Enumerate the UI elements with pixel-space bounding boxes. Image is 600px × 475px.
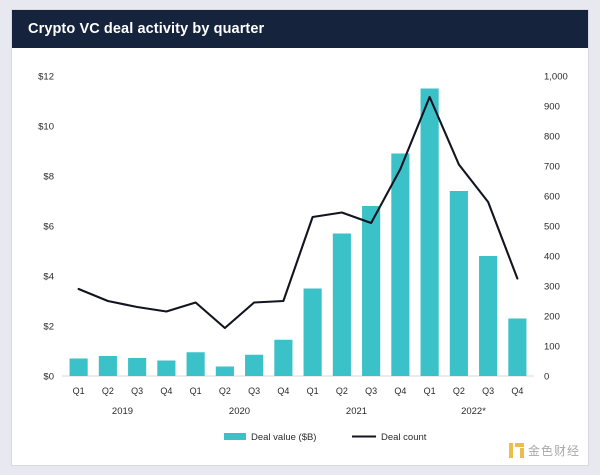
x-axis-group-label-0: 2019 [112,406,133,417]
legend-label-deal-value: Deal value ($B) [251,432,316,443]
bar-Q4-11 [391,154,409,377]
chart-area: $0$2$4$6$8$10$12 01002003004005006007008… [12,48,588,465]
y-axis-right-tick: 1,000 [544,72,568,83]
x-axis-label-5: Q2 [219,386,231,396]
x-axis-label-1: Q2 [102,386,114,396]
x-axis-group-label-1: 2020 [229,406,250,417]
x-axis-label-4: Q1 [190,386,202,396]
y-axis-right-tick: 600 [544,192,560,203]
chart-card: Crypto VC deal activity by quarter $0$2$… [12,10,588,465]
y-axis-right-tick: 700 [544,162,560,173]
legend-swatch-deal-value [224,433,246,440]
card-header: Crypto VC deal activity by quarter [12,10,588,48]
x-axis-label-0: Q1 [73,386,85,396]
y-axis-right-tick: 500 [544,222,560,233]
x-axis-group-label-3: 2022* [461,406,486,417]
chart-legend: Deal value ($B)Deal count [224,432,427,443]
bar-Q1-8 [304,289,322,377]
y-axis-right: 01002003004005006007008009001,000 [544,72,568,383]
x-axis-label-10: Q3 [365,386,377,396]
y-axis-left-tick: $0 [43,372,54,383]
x-axis-label-9: Q2 [336,386,348,396]
x-axis-label-14: Q3 [482,386,494,396]
x-axis-label-3: Q4 [160,386,172,396]
x-axis-label-6: Q3 [248,386,260,396]
x-axis: Q1Q2Q3Q4Q1Q2Q3Q4Q1Q2Q3Q4Q1Q2Q3Q420192020… [73,386,524,417]
legend-label-deal-count: Deal count [381,432,427,443]
y-axis-left-tick: $10 [38,122,54,133]
bar-Q2-1 [99,356,117,376]
x-axis-label-8: Q1 [307,386,319,396]
page-title: Crypto VC deal activity by quarter [28,21,264,37]
y-axis-right-tick: 900 [544,102,560,113]
x-axis-label-13: Q2 [453,386,465,396]
y-axis-right-tick: 800 [544,132,560,143]
bar-Q4-7 [274,340,292,376]
screenshot-root: Crypto VC deal activity by quarter $0$2$… [0,0,600,475]
watermark-text: 金色财经 [528,442,580,459]
y-axis-right-tick: 400 [544,252,560,263]
y-axis-right-tick: 200 [544,312,560,323]
bar-Q2-5 [216,367,234,377]
bar-Q1-4 [187,352,205,376]
bar-series [70,89,527,377]
x-axis-label-11: Q4 [394,386,406,396]
watermark: 金色财经 [509,442,580,459]
y-axis-left-tick: $6 [43,222,54,233]
bar-Q2-9 [333,234,351,377]
watermark-logo-icon [509,443,524,458]
bar-Q4-15 [508,319,526,377]
x-axis-label-15: Q4 [511,386,523,396]
x-axis-group-label-2: 2021 [346,406,367,417]
x-axis-label-2: Q3 [131,386,143,396]
bar-Q4-3 [157,361,175,377]
bar-Q3-14 [479,256,497,376]
y-axis-left-tick: $2 [43,322,54,333]
bar-Q1-12 [421,89,439,377]
y-axis-right-tick: 0 [544,372,549,383]
y-axis-left-tick: $12 [38,72,54,83]
combo-chart: $0$2$4$6$8$10$12 01002003004005006007008… [12,48,588,465]
x-axis-label-12: Q1 [424,386,436,396]
bar-Q3-2 [128,358,146,376]
bar-Q3-10 [362,206,380,376]
bar-Q2-13 [450,191,468,376]
y-axis-left-tick: $4 [43,272,54,283]
bar-Q1-0 [70,359,88,377]
x-axis-label-7: Q4 [277,386,289,396]
bar-Q3-6 [245,355,263,376]
y-axis-left-tick: $8 [43,172,54,183]
y-axis-right-tick: 100 [544,342,560,353]
y-axis-right-tick: 300 [544,282,560,293]
